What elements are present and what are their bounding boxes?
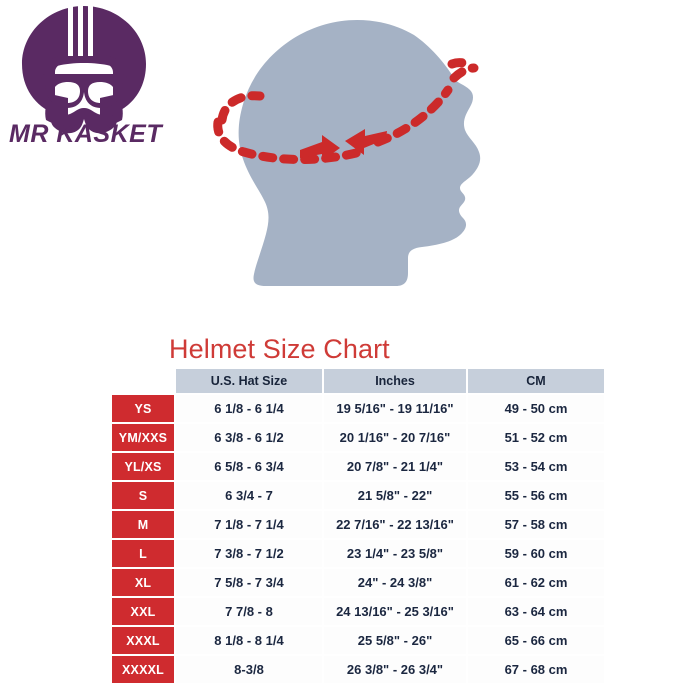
table-row: XXXL 8 1/8 - 8 1/4 25 5/8" - 26" 65 - 66… [112, 627, 604, 654]
column-header-us-hat-size: U.S. Hat Size [176, 369, 322, 393]
table-row: XL 7 5/8 - 7 3/4 24" - 24 3/8" 61 - 62 c… [112, 569, 604, 596]
cm-value: 67 - 68 cm [468, 656, 604, 683]
hat-size-value: 8-3/8 [176, 656, 322, 683]
inches-value: 21 5/8" - 22" [324, 482, 466, 509]
hat-size-value: 6 3/4 - 7 [176, 482, 322, 509]
column-header-cm: CM [468, 369, 604, 393]
svg-text:MR KASKET: MR KASKET [9, 120, 164, 148]
size-chart-table: U.S. Hat Size Inches CM YS 6 1/8 - 6 1/4… [110, 367, 606, 685]
size-label: S [112, 482, 174, 509]
inches-value: 19 5/16" - 19 11/16" [324, 395, 466, 422]
inches-value: 23 1/4" - 23 5/8" [324, 540, 466, 567]
cm-value: 53 - 54 cm [468, 453, 604, 480]
inches-value: 24 13/16" - 25 3/16" [324, 598, 466, 625]
table-row: XXL 7 7/8 - 8 24 13/16" - 25 3/16" 63 - … [112, 598, 604, 625]
cm-value: 51 - 52 cm [468, 424, 604, 451]
hat-size-value: 7 5/8 - 7 3/4 [176, 569, 322, 596]
table-row: M 7 1/8 - 7 1/4 22 7/16" - 22 13/16" 57 … [112, 511, 604, 538]
cm-value: 65 - 66 cm [468, 627, 604, 654]
inches-value: 20 1/16" - 20 7/16" [324, 424, 466, 451]
size-label: YM/XXS [112, 424, 174, 451]
inches-value: 25 5/8" - 26" [324, 627, 466, 654]
hat-size-value: 7 1/8 - 7 1/4 [176, 511, 322, 538]
cm-value: 63 - 64 cm [468, 598, 604, 625]
brand-wordmark: MR KASKET [9, 120, 164, 148]
inches-value: 24" - 24 3/8" [324, 569, 466, 596]
cm-value: 59 - 60 cm [468, 540, 604, 567]
cm-value: 49 - 50 cm [468, 395, 604, 422]
head-profile-measuring-tape-icon [182, 2, 512, 322]
cm-value: 61 - 62 cm [468, 569, 604, 596]
cm-value: 55 - 56 cm [468, 482, 604, 509]
size-label: XXL [112, 598, 174, 625]
hat-size-value: 6 3/8 - 6 1/2 [176, 424, 322, 451]
header-corner-blank [112, 369, 174, 393]
size-label: L [112, 540, 174, 567]
hat-size-value: 7 3/8 - 7 1/2 [176, 540, 322, 567]
table-row: YL/XS 6 5/8 - 6 3/4 20 7/8" - 21 1/4" 53… [112, 453, 604, 480]
column-header-inches: Inches [324, 369, 466, 393]
size-chart-body: YS 6 1/8 - 6 1/4 19 5/16" - 19 11/16" 49… [112, 395, 604, 683]
table-row: YS 6 1/8 - 6 1/4 19 5/16" - 19 11/16" 49… [112, 395, 604, 422]
table-header-row: U.S. Hat Size Inches CM [112, 369, 604, 393]
hat-size-value: 7 7/8 - 8 [176, 598, 322, 625]
size-label: XL [112, 569, 174, 596]
hat-size-value: 6 1/8 - 6 1/4 [176, 395, 322, 422]
table-row: L 7 3/8 - 7 1/2 23 1/4" - 23 5/8" 59 - 6… [112, 540, 604, 567]
inches-value: 20 7/8" - 21 1/4" [324, 453, 466, 480]
hat-size-value: 8 1/8 - 8 1/4 [176, 627, 322, 654]
brand-logo: MR KASKET [6, 2, 171, 152]
helmet-glasses-mustache-icon: MR KASKET [6, 2, 171, 152]
table-row: YM/XXS 6 3/8 - 6 1/2 20 1/16" - 20 7/16"… [112, 424, 604, 451]
size-label: M [112, 511, 174, 538]
table-row: S 6 3/4 - 7 21 5/8" - 22" 55 - 56 cm [112, 482, 604, 509]
inches-value: 22 7/16" - 22 13/16" [324, 511, 466, 538]
size-label: XXXL [112, 627, 174, 654]
size-label: XXXXL [112, 656, 174, 683]
page-title: Helmet Size Chart [169, 333, 390, 365]
size-chart-page: MR KASKET Helmet [0, 0, 700, 700]
inches-value: 26 3/8" - 26 3/4" [324, 656, 466, 683]
table-row: XXXXL 8-3/8 26 3/8" - 26 3/4" 67 - 68 cm [112, 656, 604, 683]
cm-value: 57 - 58 cm [468, 511, 604, 538]
size-chart-table-wrapper: U.S. Hat Size Inches CM YS 6 1/8 - 6 1/4… [110, 367, 598, 685]
head-measurement-illustration [182, 2, 512, 322]
size-label: YS [112, 395, 174, 422]
size-label: YL/XS [112, 453, 174, 480]
hat-size-value: 6 5/8 - 6 3/4 [176, 453, 322, 480]
